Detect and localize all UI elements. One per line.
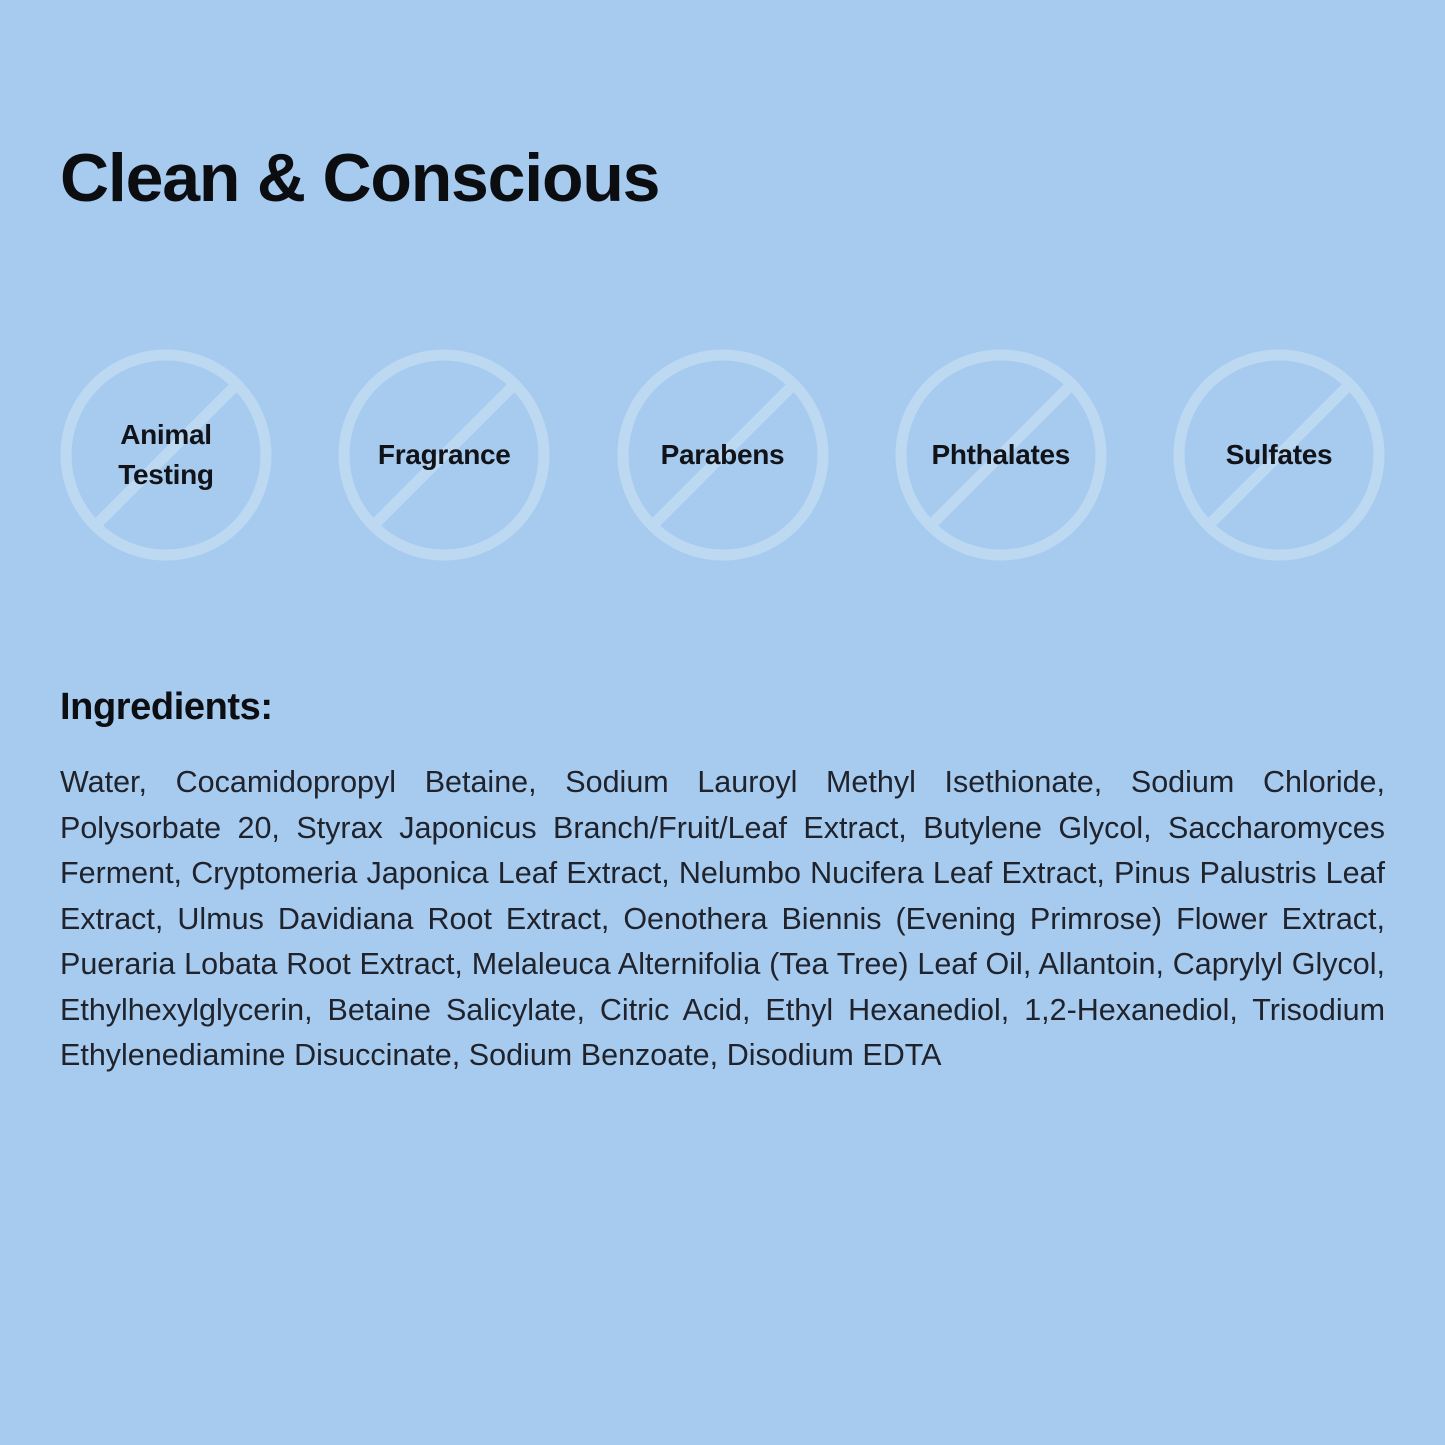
clean-and-conscious-panel: Clean & Conscious Animal Testing Fragran…: [0, 0, 1445, 1445]
free-from-badge-row: Animal Testing Fragrance Parabens: [60, 345, 1385, 565]
badge-label-line-2: Testing: [118, 459, 213, 490]
free-from-badge-sulfates: Sulfates: [1173, 349, 1385, 561]
badge-label-line-1: Animal: [120, 419, 212, 450]
free-from-badge-parabens: Parabens: [617, 349, 829, 561]
ingredients-list-text: Water, Cocamidopropyl Betaine, Sodium La…: [60, 760, 1385, 1079]
ingredients-heading: Ingredients:: [60, 686, 273, 729]
badge-label: Phthalates: [927, 435, 1074, 475]
badge-label: Parabens: [657, 435, 789, 475]
page-title: Clean & Conscious: [60, 143, 659, 214]
free-from-badge-phthalates: Phthalates: [895, 349, 1107, 561]
badge-label: Animal Testing: [114, 415, 217, 495]
free-from-badge-animal-testing: Animal Testing: [60, 349, 272, 561]
badge-label: Sulfates: [1222, 435, 1337, 475]
badge-label: Fragrance: [374, 435, 515, 475]
free-from-badge-fragrance: Fragrance: [338, 349, 550, 561]
